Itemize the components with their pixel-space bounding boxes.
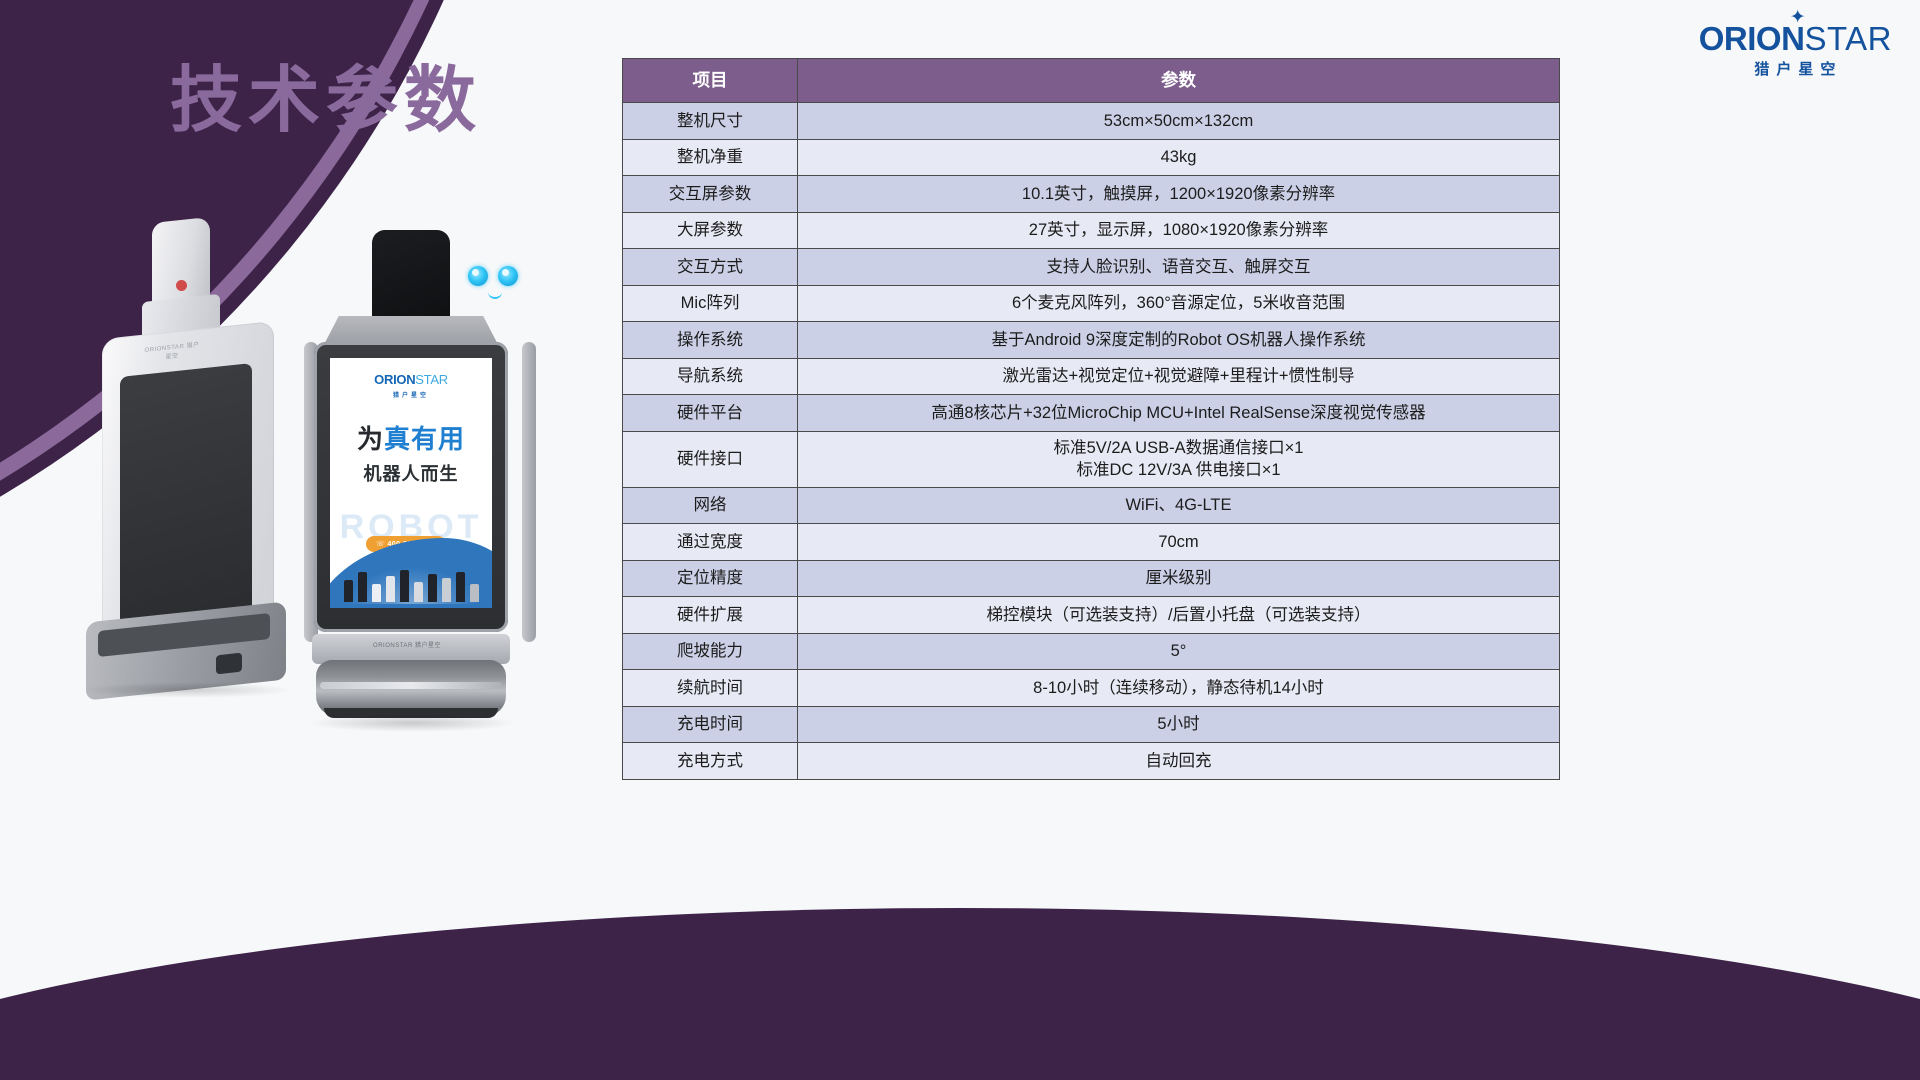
table-row: 定位精度厘米级别 — [623, 560, 1560, 597]
robot-right-brand-label: ORIONSTAR 猎户星空 — [352, 640, 462, 654]
robot-right-ad-screen: ORIONSTAR 猎户星空 ROBOT 为真有用 机器人而生 ☏ 400-89… — [330, 358, 492, 608]
ad-logo-bold: ORION — [374, 372, 415, 387]
table-row: 交互方式支持人脸识别、语音交互、触屏交互 — [623, 249, 1560, 286]
spec-value-cell: 70cm — [798, 524, 1560, 561]
ad-logo: ORIONSTAR 猎户星空 — [330, 372, 492, 399]
spec-value-cell: 标准5V/2A USB-A数据通信接口×1 标准DC 12V/3A 供电接口×1 — [798, 431, 1560, 487]
spec-value-cell: 10.1英寸，触摸屏，1200×1920像素分辨率 — [798, 176, 1560, 213]
spec-item-cell: 充电时间 — [623, 706, 798, 743]
spec-value-cell: 27英寸，显示屏，1080×1920像素分辨率 — [798, 212, 1560, 249]
spec-value-cell: 梯控模块（可选装支持）/后置小托盘（可选装支持） — [798, 597, 1560, 634]
spec-header-value: 参数 — [798, 59, 1560, 103]
robot-eye-left-icon — [468, 266, 488, 286]
spec-item-cell: 硬件平台 — [623, 395, 798, 432]
table-row: 爬坡能力5° — [623, 633, 1560, 670]
ad-product-row — [340, 564, 485, 604]
ad-headline-prefix: 为 — [357, 424, 384, 454]
spec-table-head: 项目 参数 — [623, 59, 1560, 103]
spec-item-cell: 定位精度 — [623, 560, 798, 597]
ad-logo-chinese: 猎户星空 — [330, 390, 492, 399]
brand-logo-bold: ORION — [1699, 20, 1805, 57]
spec-item-cell: 交互方式 — [623, 249, 798, 286]
robot-left-shadow — [80, 682, 295, 698]
ad-headline-highlight: 真有用 — [384, 424, 465, 454]
spec-item-cell: 充电方式 — [623, 743, 798, 780]
robot-left-camera — [216, 653, 242, 675]
spec-value-cell: 5小时 — [798, 706, 1560, 743]
spec-value-cell: 8-10小时（连续移动），静态待机14小时 — [798, 670, 1560, 707]
robot-product-images: ORIONSTAR 猎户星空 ORIONSTAR — [60, 210, 600, 740]
table-row: 续航时间8-10小时（连续移动），静态待机14小时 — [623, 670, 1560, 707]
spec-value-cell: 5° — [798, 633, 1560, 670]
spec-value-cell: WiFi、4G-LTE — [798, 487, 1560, 524]
spec-value-cell: 支持人脸识别、语音交互、触屏交互 — [798, 249, 1560, 286]
spec-item-cell: 导航系统 — [623, 358, 798, 395]
robot-right-front-view: ORIONSTAR 猎户星空 ROBOT 为真有用 机器人而生 ☏ 400-89… — [290, 230, 550, 720]
robot-face-eyes — [468, 266, 518, 288]
ad-headline: 为真有用 — [330, 419, 492, 456]
ad-subheadline: 机器人而生 — [330, 460, 492, 486]
table-row: 硬件扩展梯控模块（可选装支持）/后置小托盘（可选装支持） — [623, 597, 1560, 634]
table-row: 导航系统激光雷达+视觉定位+视觉避障+里程计+惯性制导 — [623, 358, 1560, 395]
spec-value-cell: 基于Android 9深度定制的Robot OS机器人操作系统 — [798, 322, 1560, 359]
table-row: 操作系统基于Android 9深度定制的Robot OS机器人操作系统 — [623, 322, 1560, 359]
table-row: 充电方式自动回充 — [623, 743, 1560, 780]
spec-table-body: 整机尺寸53cm×50cm×132cm整机净重43kg交互屏参数10.1英寸，触… — [623, 103, 1560, 780]
table-row: 交互屏参数10.1英寸，触摸屏，1200×1920像素分辨率 — [623, 176, 1560, 213]
table-row: 硬件平台高通8核芯片+32位MicroChip MCU+Intel RealSe… — [623, 395, 1560, 432]
spec-value-cell: 53cm×50cm×132cm — [798, 103, 1560, 140]
spec-value-cell: 厘米级别 — [798, 560, 1560, 597]
robot-left-indicator-light — [176, 280, 187, 291]
star-icon: ✦ — [1790, 8, 1805, 27]
robot-eye-right-icon — [498, 266, 518, 286]
spec-item-cell: 通过宽度 — [623, 524, 798, 561]
spec-item-cell: 续航时间 — [623, 670, 798, 707]
robot-left-rear-view: ORIONSTAR 猎户星空 — [80, 220, 305, 700]
spec-item-cell: 操作系统 — [623, 322, 798, 359]
table-row: 硬件接口标准5V/2A USB-A数据通信接口×1 标准DC 12V/3A 供电… — [623, 431, 1560, 487]
slide-canvas: 技术参数 ✦ ORIONSTAR 猎户星空 ORIONSTAR 猎户星空 — [0, 0, 1920, 1080]
brand-logo: ✦ ORIONSTAR 猎户星空 — [1699, 22, 1892, 77]
spec-item-cell: 网络 — [623, 487, 798, 524]
brand-logo-wordmark: ✦ ORIONSTAR — [1699, 22, 1892, 55]
page-title: 技术参数 — [170, 62, 482, 141]
robot-right-pillar-right — [522, 342, 536, 642]
decoration-bottom-arc — [0, 908, 1920, 1080]
table-row: 网络WiFi、4G-LTE — [623, 487, 1560, 524]
table-row: Mic阵列6个麦克风阵列，360°音源定位，5米收音范围 — [623, 285, 1560, 322]
spec-item-cell: 爬坡能力 — [623, 633, 798, 670]
ad-logo-light: STAR — [415, 372, 448, 387]
spec-item-cell: 硬件扩展 — [623, 597, 798, 634]
robot-mouth-icon — [488, 292, 502, 299]
spec-item-cell: 整机尺寸 — [623, 103, 798, 140]
spec-item-cell: 硬件接口 — [623, 431, 798, 487]
spec-value-cell: 43kg — [798, 139, 1560, 176]
spec-table-header-row: 项目 参数 — [623, 59, 1560, 103]
robot-right-base-ring — [320, 682, 502, 689]
decoration-bottom — [0, 890, 1920, 1080]
brand-logo-chinese: 猎户星空 — [1705, 62, 1892, 77]
spec-table: 项目 参数 整机尺寸53cm×50cm×132cm整机净重43kg交互屏参数10… — [622, 58, 1560, 780]
table-row: 整机尺寸53cm×50cm×132cm — [623, 103, 1560, 140]
robot-left-rear-panel — [120, 363, 252, 627]
spec-value-cell: 激光雷达+视觉定位+视觉避障+里程计+惯性制导 — [798, 358, 1560, 395]
spec-item-cell: 整机净重 — [623, 139, 798, 176]
table-row: 整机净重43kg — [623, 139, 1560, 176]
table-row: 大屏参数27英寸，显示屏，1080×1920像素分辨率 — [623, 212, 1560, 249]
spec-header-item: 项目 — [623, 59, 798, 103]
table-row: 充电时间5小时 — [623, 706, 1560, 743]
spec-value-cell: 自动回充 — [798, 743, 1560, 780]
spec-value-cell: 高通8核芯片+32位MicroChip MCU+Intel RealSense深… — [798, 395, 1560, 432]
brand-logo-light: STAR — [1804, 20, 1892, 57]
spec-item-cell: Mic阵列 — [623, 285, 798, 322]
robot-right-shadow — [306, 714, 518, 732]
spec-value-cell: 6个麦克风阵列，360°音源定位，5米收音范围 — [798, 285, 1560, 322]
table-row: 通过宽度70cm — [623, 524, 1560, 561]
spec-item-cell: 大屏参数 — [623, 212, 798, 249]
spec-item-cell: 交互屏参数 — [623, 176, 798, 213]
